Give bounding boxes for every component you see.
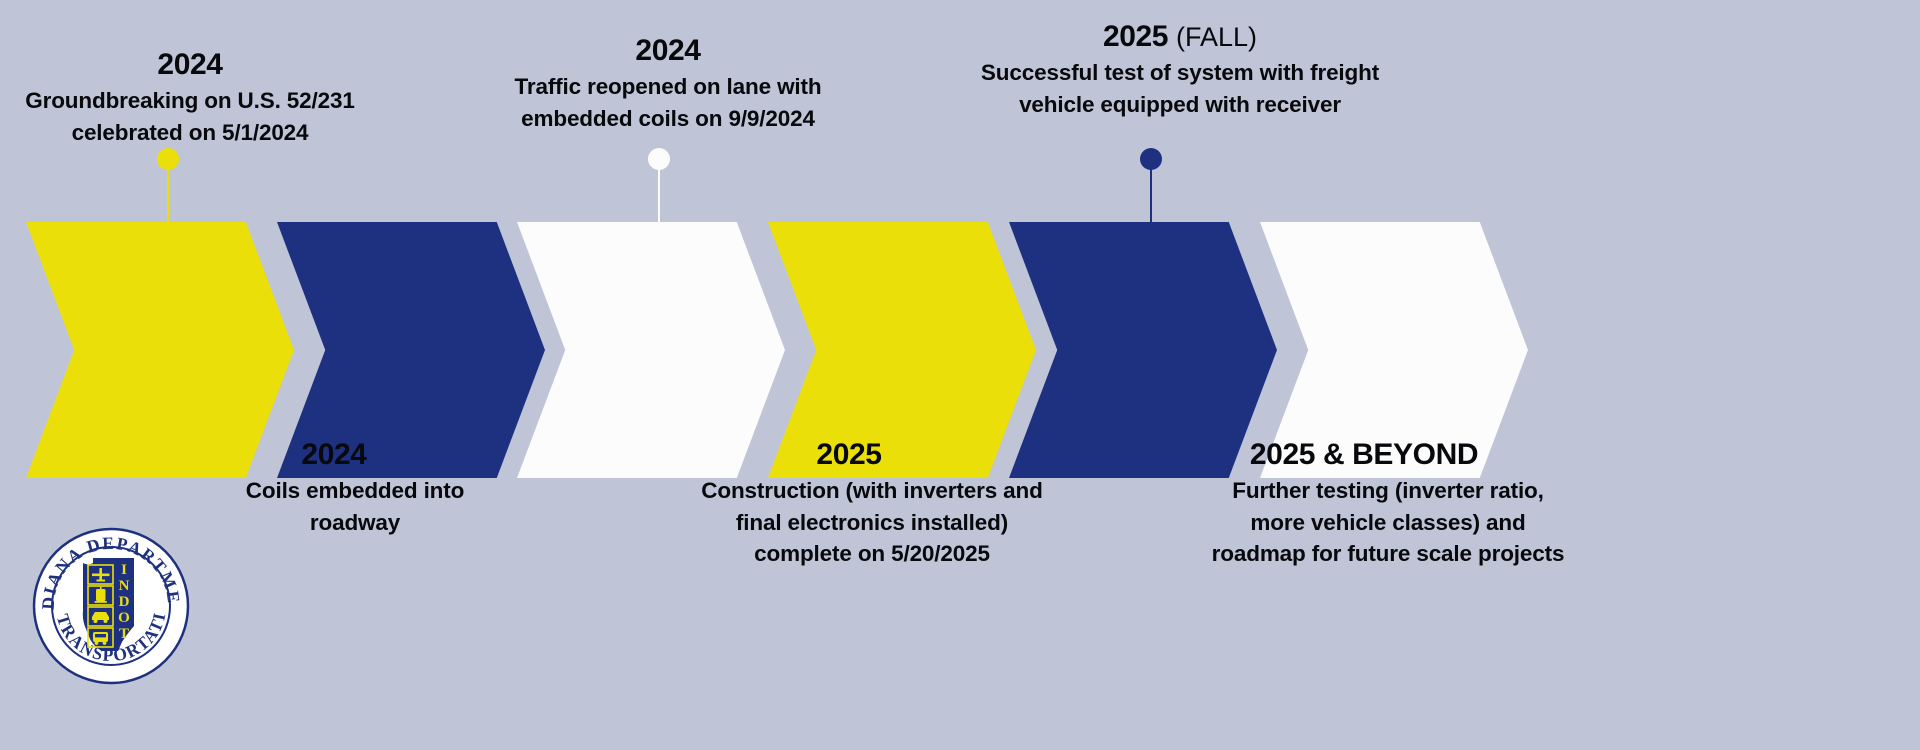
connector-groundbreaking (167, 160, 169, 240)
description-line: Further testing (inverter ratio, (1138, 475, 1638, 507)
milestone-label-coils-embedded: 2024 Coils embedded into roadway (165, 438, 545, 538)
indot-logo: INDIANA DEPARTMENT OF TRANSPORTATION (30, 525, 192, 687)
milestone-description-successful-test: Successful test of system with freight v… (940, 57, 1420, 121)
description-line: more vehicle classes) and (1138, 507, 1638, 539)
milestone-label-construction-complete: 2025 Construction (with inverters and fi… (652, 438, 1092, 570)
milestone-description-future-scale: Further testing (inverter ratio, more ve… (1138, 475, 1638, 571)
milestone-label-traffic-reopened: 2024 Traffic reopened on lane with embed… (478, 34, 858, 134)
milestone-label-future-scale: 2025 & BEYOND Further testing (inverter … (1138, 438, 1638, 570)
description-line: Coils embedded into (165, 475, 545, 507)
indot-seal-icon: INDIANA DEPARTMENT OF TRANSPORTATION (30, 525, 192, 687)
svg-text:D: D (119, 594, 130, 610)
marker-dot-groundbreaking (157, 148, 179, 170)
description-line: vehicle equipped with receiver (940, 89, 1420, 121)
description-line: Traffic reopened on lane with (478, 71, 858, 103)
description-line: roadmap for future scale projects (1138, 538, 1638, 570)
description-line: complete on 5/20/2025 (652, 538, 1092, 570)
milestone-label-groundbreaking: 2024 Groundbreaking on U.S. 52/231 celeb… (0, 48, 380, 148)
svg-text:N: N (119, 578, 130, 594)
milestone-year-groundbreaking: 2024 (0, 48, 380, 82)
milestone-year-future-scale: 2025 & BEYOND (1138, 438, 1590, 472)
milestone-year-coils-embedded: 2024 (165, 438, 503, 472)
description-line: final electronics installed) (652, 507, 1092, 539)
milestone-description-groundbreaking: Groundbreaking on U.S. 52/231 celebrated… (0, 85, 380, 149)
year-line-two: BEYOND (1352, 438, 1478, 471)
timeline-infographic: 2024 Groundbreaking on U.S. 52/231 celeb… (0, 0, 1920, 750)
milestone-year-successful-test: 2025 (FALL) (940, 20, 1420, 54)
milestone-description-construction-complete: Construction (with inverters and final e… (652, 475, 1092, 571)
description-line: Successful test of system with freight (940, 57, 1420, 89)
milestone-label-successful-test: 2025 (FALL) Successful test of system wi… (940, 20, 1420, 120)
milestone-description-coils-embedded: Coils embedded into roadway (165, 475, 545, 539)
milestone-year-construction-complete: 2025 (652, 438, 1046, 472)
svg-text:T: T (119, 626, 129, 642)
description-line: embedded coils on 9/9/2024 (478, 103, 858, 135)
marker-dot-traffic-reopened (648, 148, 670, 170)
svg-text:I: I (121, 562, 127, 578)
description-line: Groundbreaking on U.S. 52/231 (0, 85, 380, 117)
description-line: roadway (165, 507, 545, 539)
connector-successful-test (1150, 160, 1152, 240)
year-value: 2025 & (1250, 438, 1344, 471)
description-line: celebrated on 5/1/2024 (0, 117, 380, 149)
svg-text:O: O (118, 610, 130, 626)
milestone-year-traffic-reopened: 2024 (478, 34, 858, 68)
connector-traffic-reopened (658, 160, 660, 240)
description-line: Construction (with inverters and (652, 475, 1092, 507)
year-suffix: (FALL) (1176, 22, 1257, 52)
year-value: 2025 (1103, 20, 1168, 53)
marker-dot-successful-test (1140, 148, 1162, 170)
milestone-description-traffic-reopened: Traffic reopened on lane with embedded c… (478, 71, 858, 135)
